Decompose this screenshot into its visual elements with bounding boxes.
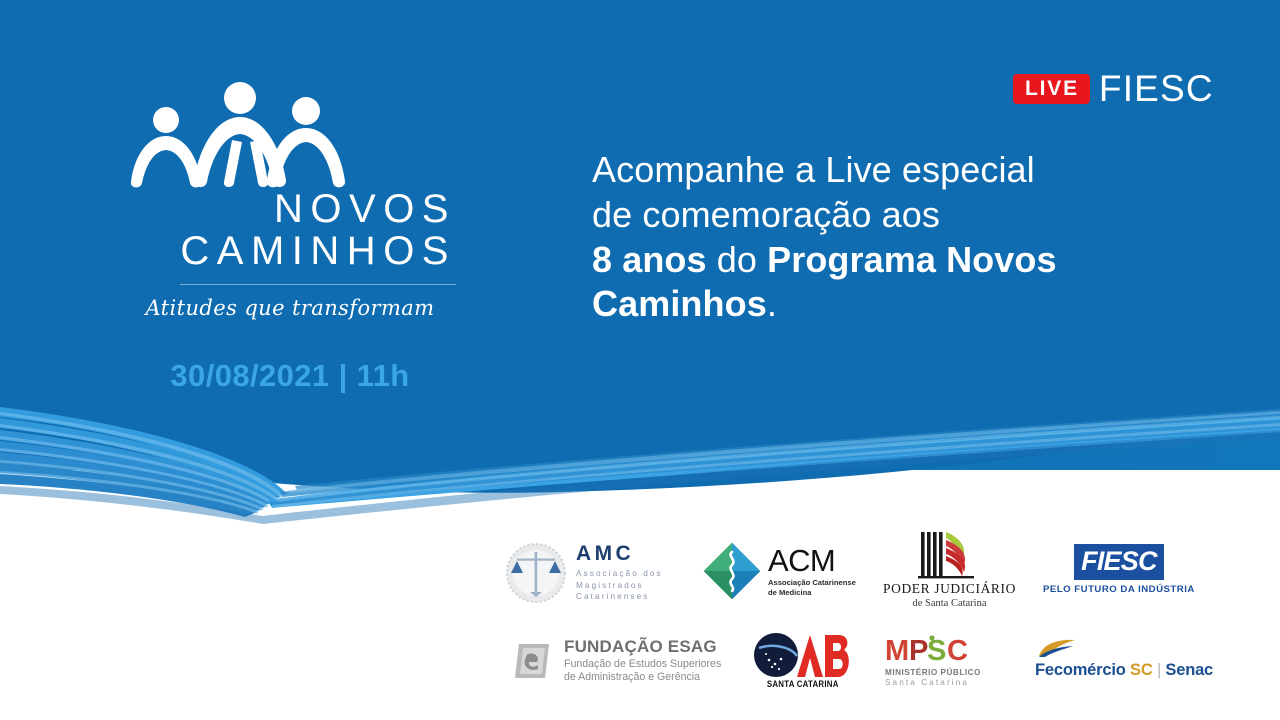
- logo-divider: [180, 284, 456, 285]
- novos-caminhos-logo: NOVOS CAMINHOS Atitudes que transformam …: [122, 78, 462, 394]
- headline-connector: do: [707, 239, 767, 280]
- acm-name: ACM: [768, 545, 856, 576]
- acm-sub-1: Associação Catarinense: [768, 578, 856, 587]
- sponsor-logos: AMC Associação dos Magistrados Catarinen…: [495, 520, 1235, 710]
- headline-line2: de comemoração aos: [592, 194, 940, 235]
- sponsor-fiesc: FIESC PELO FUTURO DA INDÚSTRIA: [1043, 544, 1195, 595]
- live-chip: LIVE: [1013, 74, 1090, 104]
- fiesc-logo-sub: PELO FUTURO DA INDÚSTRIA: [1043, 584, 1195, 595]
- amc-name: AMC: [576, 543, 663, 564]
- fecomercio-wordmark: Fecomércio SC | Senac: [1035, 662, 1213, 679]
- sponsor-fecomercio-senac: Fecomércio SC | Senac: [1035, 638, 1213, 679]
- oab-icon: [753, 632, 853, 678]
- logo-word-novos: NOVOS: [122, 188, 462, 230]
- oab-sub: SANTA CATARINA: [767, 679, 839, 690]
- acm-sub-2: de Medicina: [768, 588, 856, 597]
- headline-period: .: [767, 283, 777, 324]
- fecomercio-feather-icon: [1035, 638, 1095, 660]
- fiesc-logo-box: FIESC: [1074, 544, 1164, 580]
- sponsor-mpsc: M P S C MINISTÉRIO PÚBLICO Santa Catarin…: [885, 634, 981, 689]
- sponsor-acm: ACM Associação Catarinense de Medicina: [703, 542, 856, 600]
- mpsc-sub-2: Santa Catarina: [885, 678, 969, 689]
- senac-name: Senac: [1165, 661, 1213, 679]
- svg-text:P: P: [909, 635, 928, 667]
- mpsc-sub-1: MINISTÉRIO PÚBLICO: [885, 668, 981, 678]
- headline: Acompanhe a Live especial de comemoração…: [592, 148, 1132, 327]
- sponsor-fundacao-esag: FUNDAÇÃO ESAG Fundação de Estudos Superi…: [509, 638, 721, 684]
- sponsor-poder-judiciario: PODER JUDICIÁRIO de Santa Catarina: [883, 528, 1016, 609]
- amc-sub-1: Associação dos: [576, 568, 663, 580]
- live-fiesc-badge: LIVE FIESC: [1013, 70, 1214, 107]
- fecomercio-name: Fecomércio: [1035, 661, 1126, 679]
- promotional-banner: LIVE FIESC NOVOS CAMINHOS Atitudes: [0, 0, 1280, 720]
- event-date: 30/08/2021 | 11h: [122, 358, 462, 394]
- fecomercio-divider: |: [1157, 661, 1161, 679]
- logo-tagline: Atitudes que transformam: [122, 296, 462, 320]
- headline-bold-years: 8 anos: [592, 239, 707, 280]
- amc-scales-icon: [505, 542, 567, 604]
- amc-sub-2: Magistrados: [576, 580, 663, 592]
- poder-judiciario-name: PODER JUDICIÁRIO: [883, 582, 1016, 596]
- acm-diamond-icon: [703, 542, 761, 600]
- svg-text:M: M: [885, 635, 908, 667]
- esag-name: FUNDAÇÃO ESAG: [564, 638, 721, 655]
- fiesc-logo-name: FIESC: [1081, 546, 1157, 576]
- logo-word-caminhos: CAMINHOS: [122, 230, 462, 272]
- svg-text:C: C: [947, 635, 968, 667]
- sponsor-oab: SANTA CATARINA: [753, 632, 853, 690]
- fiesc-wordmark: FIESC: [1099, 70, 1214, 107]
- amc-sub-3: Catarinenses: [576, 591, 663, 603]
- esag-sub-1: Fundação de Estudos Superiores: [564, 658, 721, 671]
- fecomercio-sc: SC: [1130, 661, 1153, 679]
- esag-sub-2: de Administração e Gerência: [564, 671, 721, 684]
- poder-judiciario-icon: [913, 528, 985, 582]
- sponsor-amc: AMC Associação dos Magistrados Catarinen…: [505, 542, 663, 604]
- svg-text:S: S: [927, 635, 946, 667]
- three-figures-icon: [128, 78, 448, 188]
- headline-line1: Acompanhe a Live especial: [592, 149, 1035, 190]
- esag-icon: [509, 638, 555, 684]
- poder-judiciario-sub: de Santa Catarina: [912, 599, 986, 610]
- mpsc-icon: M P S C: [885, 634, 977, 668]
